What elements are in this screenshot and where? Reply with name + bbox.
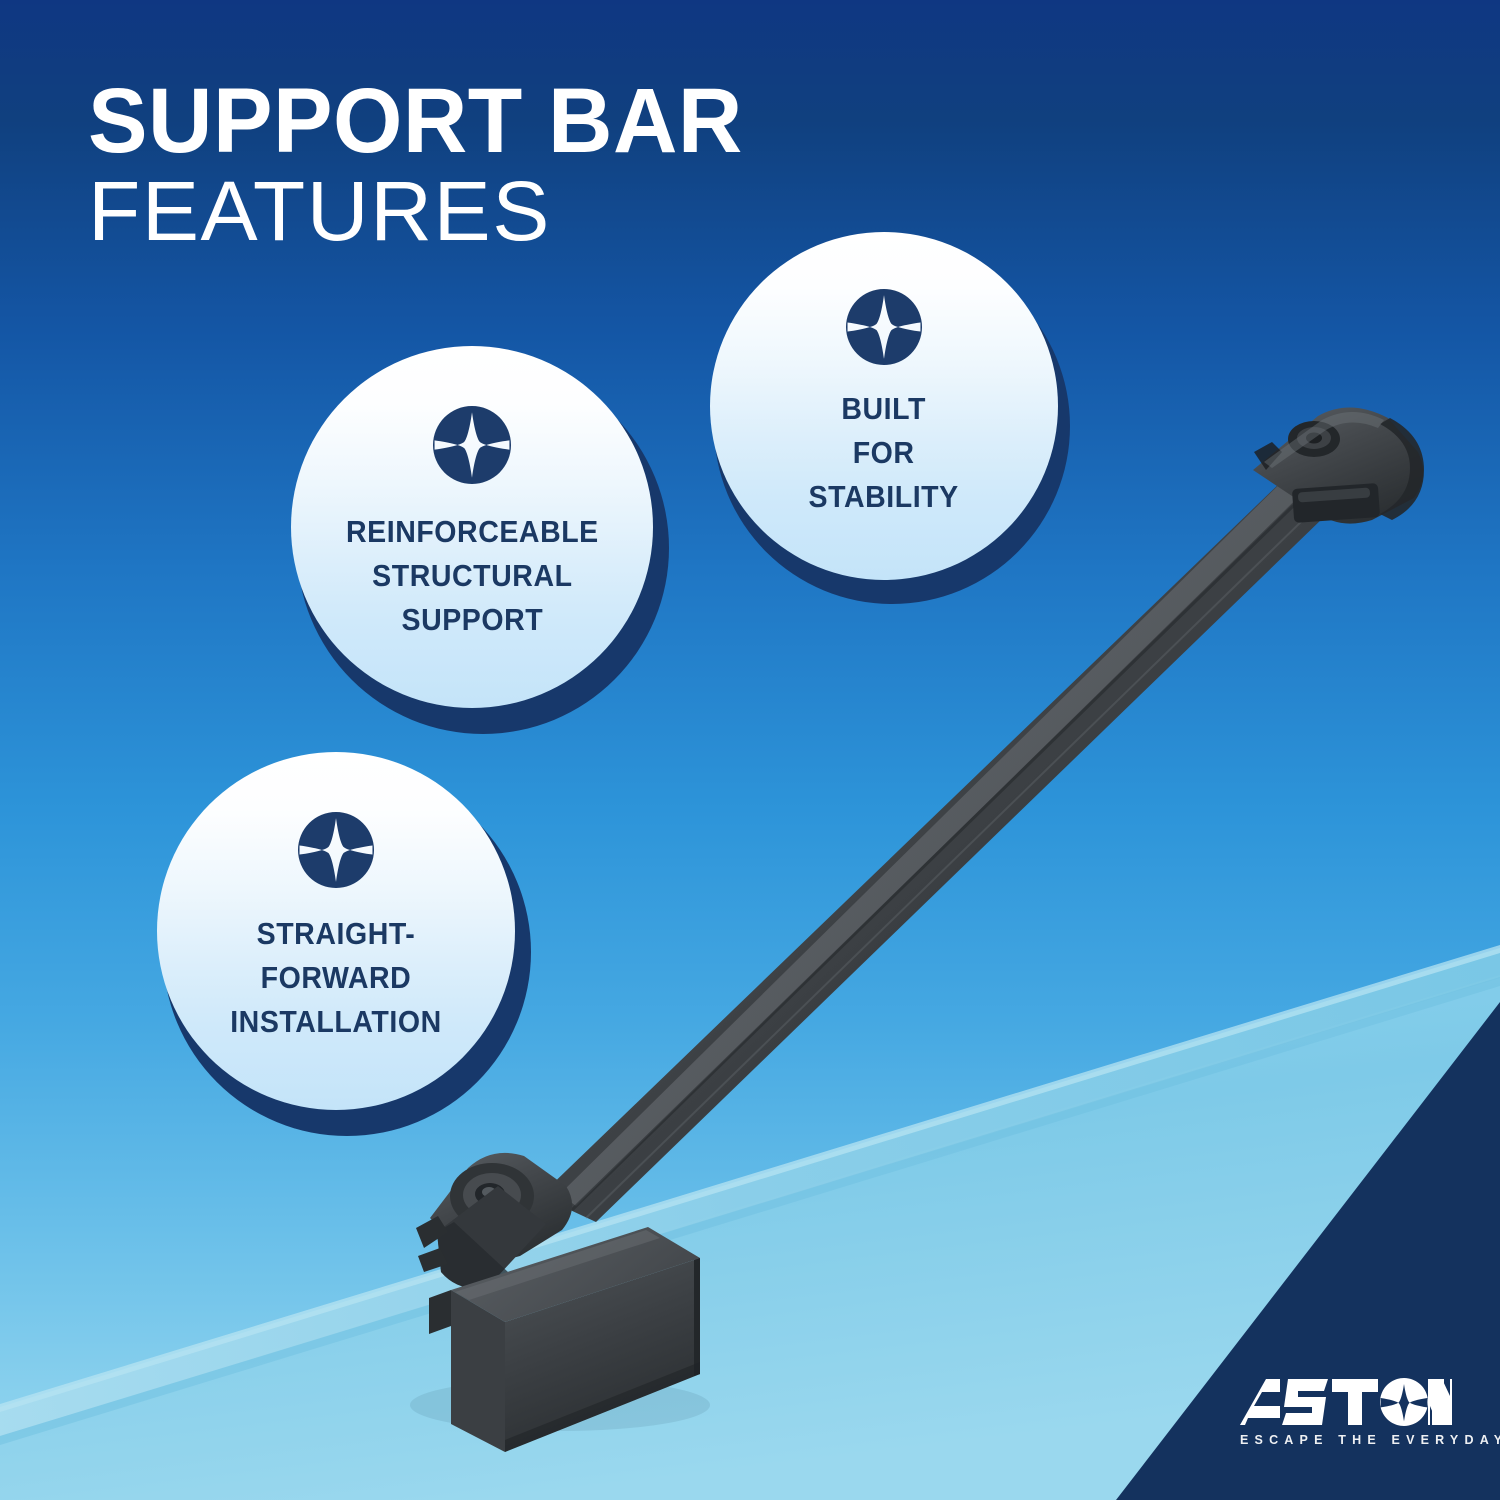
badge-label: REINFORCEABLE STRUCTURAL SUPPORT (346, 510, 599, 642)
feature-badge-straightforward-installation[interactable]: STRAIGHT- FORWARD INSTALLATION (157, 752, 525, 1120)
badge-face: STRAIGHT- FORWARD INSTALLATION (157, 752, 515, 1110)
badge-label-line: BUILT (809, 387, 959, 431)
badge-label-line: INSTALLATION (230, 1000, 442, 1044)
badge-label-line: SUPPORT (346, 598, 599, 642)
brand-logo: ESCAPE THE EVERYDAY (1236, 1376, 1452, 1447)
title-line-primary: SUPPORT BAR (88, 78, 883, 165)
product-feature-graphic: SUPPORT BAR FEATURES REINFORCEABLE STRUC… (0, 0, 1500, 1500)
brand-tagline: ESCAPE THE EVERYDAY (1236, 1433, 1452, 1447)
four-point-star-icon (433, 406, 511, 484)
badge-label-line: STRAIGHT- (230, 912, 442, 956)
four-point-star-icon (846, 289, 922, 365)
badge-label: STRAIGHT- FORWARD INSTALLATION (230, 912, 442, 1044)
badge-label-line: REINFORCEABLE (346, 510, 599, 554)
feature-badge-reinforceable-structural-support[interactable]: REINFORCEABLE STRUCTURAL SUPPORT (291, 346, 663, 718)
badge-label-line: FORWARD (230, 956, 442, 1000)
badge-label: BUILT FOR STABILITY (809, 387, 959, 519)
badge-label-line: STABILITY (809, 475, 959, 519)
badge-label-line: STRUCTURAL (346, 554, 599, 598)
aston-wordmark (1236, 1376, 1452, 1430)
badge-label-line: FOR (809, 431, 959, 475)
four-point-star-icon (298, 812, 374, 888)
badge-face: REINFORCEABLE STRUCTURAL SUPPORT (291, 346, 653, 708)
badge-face: BUILT FOR STABILITY (710, 232, 1058, 580)
feature-badge-built-for-stability[interactable]: BUILT FOR STABILITY (710, 232, 1066, 588)
page-title: SUPPORT BAR FEATURES (88, 78, 908, 255)
